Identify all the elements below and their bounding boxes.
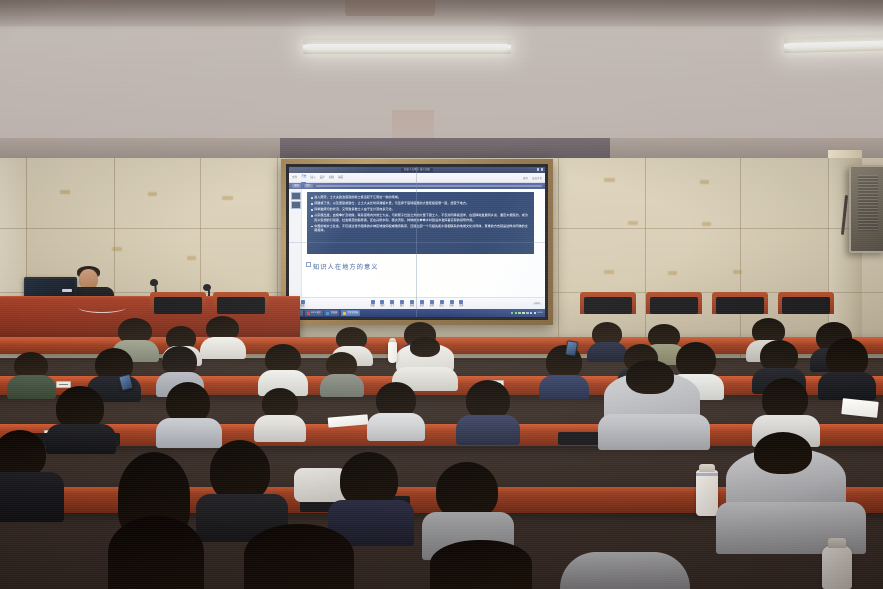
front-chair xyxy=(213,292,269,314)
animation-icon xyxy=(450,300,454,304)
slide-heading: 知识人在地方的意义 xyxy=(313,262,379,271)
tool-image[interactable]: 图片 xyxy=(400,300,404,307)
slide-bullet: 中国的城乡土社会，不仅通过世代相承的乡神区域信仰权威维持秩序，还建立起一个与祖先… xyxy=(311,224,530,233)
slide-thumbnail-pane[interactable] xyxy=(289,189,302,297)
bullet-dot-icon xyxy=(311,203,313,205)
tool-new[interactable]: 新建 xyxy=(370,300,374,307)
minimize-icon[interactable] xyxy=(537,168,539,170)
bottle-cap xyxy=(828,538,846,548)
ribbon-right-group[interactable]: 协作 会员专享 xyxy=(523,176,542,180)
redo-icon xyxy=(301,300,305,304)
person-torso xyxy=(367,413,425,441)
slide-canvas[interactable]: 进入南宋，士大夫政治造就的新士族活跃于江南这一新的场域。 待阙或丁忧，以及罢官或… xyxy=(302,190,538,295)
slideshow-icon xyxy=(430,300,434,304)
folder-icon xyxy=(343,312,346,315)
person-hair xyxy=(466,380,510,420)
person-hair xyxy=(410,337,440,357)
tube-glow xyxy=(787,39,883,49)
tool-shape[interactable]: 形状 xyxy=(420,300,424,307)
bottle-cap xyxy=(699,464,715,472)
more-icon xyxy=(459,300,463,304)
windows-taskbar[interactable]: WPS 演示 浏览器 资源管理器 14:26 xyxy=(289,309,545,317)
bottle-cap xyxy=(389,338,396,342)
person-torso xyxy=(539,375,589,399)
fluorescent-tube-light xyxy=(784,33,883,53)
taskbar-app-label: 资源管理器 xyxy=(347,312,358,315)
wall-speaker-icon xyxy=(849,165,883,253)
person-torso xyxy=(456,415,520,445)
new-icon xyxy=(371,300,375,304)
person-torso xyxy=(320,374,364,397)
person-torso xyxy=(156,418,222,448)
system-tray[interactable]: 14:26 xyxy=(511,312,544,315)
seat-number-tag xyxy=(56,381,71,388)
redo-button[interactable]: 恢复 xyxy=(300,300,304,307)
browser-icon xyxy=(326,312,329,315)
person-hair xyxy=(430,540,532,589)
ceiling-vent xyxy=(345,0,435,16)
comment-icon xyxy=(440,300,444,304)
slide-content-box: 进入南宋，士大夫政治造就的新士族活跃于江南这一新的场域。 待阙或丁忧，以及罢官或… xyxy=(307,192,534,254)
window-controls[interactable] xyxy=(537,168,543,170)
shape-icon xyxy=(420,300,424,304)
slide-area[interactable]: 进入南宋，士大夫政治造就的新士族活跃于江南这一新的场域。 待阙或丁忧，以及罢官或… xyxy=(289,189,545,297)
document-title: 知识人在地方 演示文稿 xyxy=(404,168,430,172)
tool-more[interactable]: 更多 xyxy=(459,300,463,307)
tube-glow xyxy=(306,44,508,50)
tool-label: 新建 xyxy=(370,305,374,307)
person-torso xyxy=(46,424,116,454)
edit-progress-bar xyxy=(316,185,542,187)
taskbar-app-label: WPS 演示 xyxy=(311,312,321,315)
bullet-text: 进入南宋，士大夫政治造就的新士族活跃于江南这一新的场域。 xyxy=(314,195,401,200)
person-torso xyxy=(0,472,64,522)
redo-label: 恢复 xyxy=(300,305,304,307)
bullet-text: 从宗族出发，血缘�扩及地缘，联系官场内外的士大夫，与新帮子仕途之外的大量下层士人… xyxy=(314,213,530,222)
water-bottle xyxy=(388,341,397,363)
person-hair xyxy=(244,524,354,589)
slide-thumbnail[interactable] xyxy=(291,192,301,200)
bullet-dot-icon xyxy=(311,226,313,228)
zoom-level[interactable]: 100% xyxy=(532,303,542,305)
ribbon-tab-animation[interactable]: 动画 xyxy=(338,173,343,183)
water-bottle xyxy=(822,546,852,589)
tool-label: 文字 xyxy=(390,305,394,307)
taskbar-app-explorer[interactable]: 资源管理器 xyxy=(341,310,360,316)
taskbar-app-wps[interactable]: WPS 演示 xyxy=(305,310,323,316)
tool-save[interactable]: 保存 xyxy=(380,300,384,307)
front-chair xyxy=(712,292,768,314)
seat-rail xyxy=(0,424,883,431)
ribbon-tab-file[interactable]: 文件 xyxy=(292,173,297,183)
taskbar-clock[interactable]: 14:26 xyxy=(537,312,542,315)
person-torso xyxy=(818,372,876,400)
cloud-icon[interactable] xyxy=(530,312,533,315)
text-icon xyxy=(390,300,394,304)
tool-slideshow[interactable]: 放映 xyxy=(430,300,434,307)
tool-label: 放映 xyxy=(430,305,434,307)
image-icon xyxy=(400,300,404,304)
network-icon[interactable] xyxy=(511,312,514,315)
volume-icon[interactable] xyxy=(515,312,518,315)
ceiling-shadow xyxy=(0,0,883,30)
desk-cable xyxy=(78,302,126,313)
front-chair xyxy=(150,292,206,314)
slide-bullet: 科举跛庳行的状况，又导致多数士人由于生计流向多元化。 xyxy=(311,207,530,212)
bullet-dot-icon xyxy=(311,215,313,217)
protect-chip[interactable]: 保护 xyxy=(304,184,313,188)
front-chair xyxy=(646,292,702,314)
maximize-icon[interactable] xyxy=(541,168,543,170)
person-hair xyxy=(676,342,716,378)
slide-bullet: 进入南宋，士大夫政治造就的新士族活跃于江南这一新的场域。 xyxy=(311,195,530,200)
monitor-badge xyxy=(62,289,72,292)
ribbon-tab-insert[interactable]: 插入 xyxy=(310,173,315,183)
bullet-text: 科举跛庳行的状况，又导致多数士人由于生计流向多元化。 xyxy=(314,207,395,212)
heading-marker-icon xyxy=(306,262,311,267)
tool-comment[interactable]: 批注 xyxy=(440,300,444,307)
bullet-dot-icon xyxy=(311,197,313,199)
slide-thumbnail[interactable] xyxy=(291,201,301,209)
document-title-pill: 知识人在地方 演示文稿 xyxy=(401,168,433,172)
ribbon-member[interactable]: 会员专享 xyxy=(532,176,542,180)
battery-icon[interactable] xyxy=(518,312,521,315)
tool-label: 动画 xyxy=(449,305,453,307)
security-icon[interactable] xyxy=(526,312,529,315)
person-hair xyxy=(0,430,46,478)
bottle-band xyxy=(696,473,718,476)
ribbon-tab-transition[interactable]: 切换 xyxy=(329,173,334,183)
person-torso xyxy=(7,375,56,399)
ribbon-tab-design[interactable]: 设计 xyxy=(320,173,325,183)
table-icon xyxy=(410,300,414,304)
taskbar-app-label: 浏览器 xyxy=(331,312,338,315)
ribbon-collaborate[interactable]: 协作 xyxy=(523,176,528,180)
person-torso xyxy=(598,414,710,450)
tool-animation[interactable]: 动画 xyxy=(449,300,453,307)
bullet-text: 中国的城乡土社会，不仅通过世代相承的乡神区域信仰权威维持秩序，还建立起一个与祖先… xyxy=(314,224,530,233)
person-torso xyxy=(200,337,246,359)
slide-bottom-toolbar[interactable]: 撤销 恢复 新建 保存 文字 图片 xyxy=(289,297,545,309)
notification-icon[interactable] xyxy=(534,312,537,315)
slide-bullet: 待阙或丁忧，以及罢官或致仕，让士大夫长时间滞留乡里，与压抑于官场底层的大量低级官… xyxy=(311,201,530,206)
bullet-text: 待阙或丁忧，以及罢官或致仕，让士大夫长时间滞留乡里，与压抑于官场底层的大量低级官… xyxy=(314,201,469,206)
person-torso xyxy=(254,415,306,442)
tool-label: 表格 xyxy=(410,305,414,307)
input-method-icon[interactable] xyxy=(522,312,525,315)
tool-text[interactable]: 文字 xyxy=(390,300,394,307)
person-torso xyxy=(560,552,690,589)
tool-table[interactable]: 表格 xyxy=(410,300,414,307)
tool-label: 更多 xyxy=(459,305,463,307)
tool-label: 保存 xyxy=(380,305,384,307)
seat-row xyxy=(0,424,883,446)
wps-icon xyxy=(307,312,310,315)
paper-sheet xyxy=(841,398,878,418)
taskbar-app-browser[interactable]: 浏览器 xyxy=(324,310,339,316)
front-chair xyxy=(580,292,636,314)
person-hair xyxy=(626,360,674,394)
person-hair xyxy=(108,516,204,589)
edit-mode-chip[interactable]: 编辑 xyxy=(292,184,301,188)
person-hair xyxy=(754,432,812,474)
person-torso xyxy=(587,342,628,362)
person-hair xyxy=(762,378,808,420)
save-icon xyxy=(380,300,384,304)
slide-bullet: 从宗族出发，血缘�扩及地缘，联系官场内外的士大夫，与新帮子仕途之外的大量下层士人… xyxy=(311,213,530,222)
front-chair xyxy=(778,292,834,314)
ribbon-tab-home[interactable]: 开始 xyxy=(301,172,306,183)
tool-label: 形状 xyxy=(420,305,424,307)
tool-label: 图片 xyxy=(400,305,404,307)
person-hair xyxy=(210,440,270,502)
lecture-hall-photo: 知识人在地方 演示文稿 文件 开始 插入 设计 切换 动画 协作 会员专享 编辑… xyxy=(0,0,883,589)
ribbon-bar[interactable]: 文件 开始 插入 设计 切换 动画 协作 会员专享 xyxy=(289,173,545,183)
tool-label: 批注 xyxy=(440,305,444,307)
fluorescent-tube-light xyxy=(303,38,511,54)
water-bottle xyxy=(696,470,718,516)
presentation-screen[interactable]: 知识人在地方 演示文稿 文件 开始 插入 设计 切换 动画 协作 会员专享 编辑… xyxy=(289,167,545,317)
bullet-dot-icon xyxy=(311,209,313,211)
